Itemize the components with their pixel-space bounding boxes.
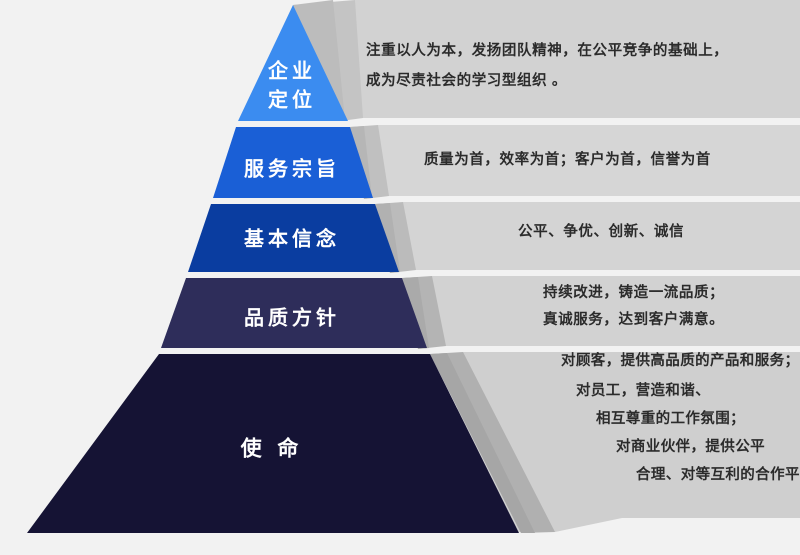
pyramid-diagram-svg: 企业 定位 注重以人为本，发扬团队精神，在公平竞争的基础上， 成为尽责社会的学习… (0, 0, 800, 555)
level-5-label: 使 命 (240, 437, 304, 461)
level-5-group[interactable]: 使 命 对顾客，提供高品质的产品和服务； 对员工，营造和谐、 相互尊重的工作氛围… (27, 351, 800, 533)
level-4-desc-line-2: 真诚服务，达到客户满意。 (543, 310, 724, 328)
level-5-desc-line-5: 合理、对等互利的合作平台。 (635, 465, 800, 483)
level-2-label: 服务宗旨 (244, 156, 340, 180)
level-1-group[interactable]: 企业 定位 注重以人为本，发扬团队精神，在公平竞争的基础上， 成为尽责社会的学习… (238, 0, 800, 121)
level-1-label-line1: 企业 (267, 58, 316, 82)
level-5-desc-line-3: 相互尊重的工作氛围； (596, 409, 745, 427)
level-1-panel (338, 0, 800, 118)
level-5-desc-line-2: 对员工，营造和谐、 (576, 381, 710, 399)
level-5-desc-line-1: 对顾客，提供高品质的产品和服务； (561, 351, 799, 369)
level-5-desc-line-4: 对商业伙伴，提供公平 (616, 437, 765, 455)
level-3-group[interactable]: 基本信念 公平、争优、创新、诚信 (188, 202, 800, 273)
level-2-desc-line-1: 质量为首，效率为首；客户为首，信誉为首 (424, 150, 711, 168)
level-3-label: 基本信念 (244, 226, 340, 250)
level-4-desc-line-1: 持续改进，铸造一流品质； (543, 283, 724, 301)
level-1-label-line2: 定位 (268, 87, 316, 111)
level-4-label: 品质方针 (244, 305, 340, 329)
level-4-group[interactable]: 品质方针 持续改进，铸造一流品质； 真诚服务，达到客户满意。 (161, 276, 800, 349)
pyramid-diagram-canvas: 企业 定位 注重以人为本，发扬团队精神，在公平竞争的基础上， 成为尽责社会的学习… (0, 0, 800, 555)
level-2-group[interactable]: 服务宗旨 质量为首，效率为首；客户为首，信誉为首 (213, 125, 800, 199)
level-1-desc-line-2: 成为尽责社会的学习型组织 。 (366, 71, 567, 89)
level-1-desc-line-1: 注重以人为本，发扬团队精神，在公平竞争的基础上， (366, 41, 728, 59)
level-3-desc-line-1: 公平、争优、创新、诚信 (518, 222, 684, 240)
